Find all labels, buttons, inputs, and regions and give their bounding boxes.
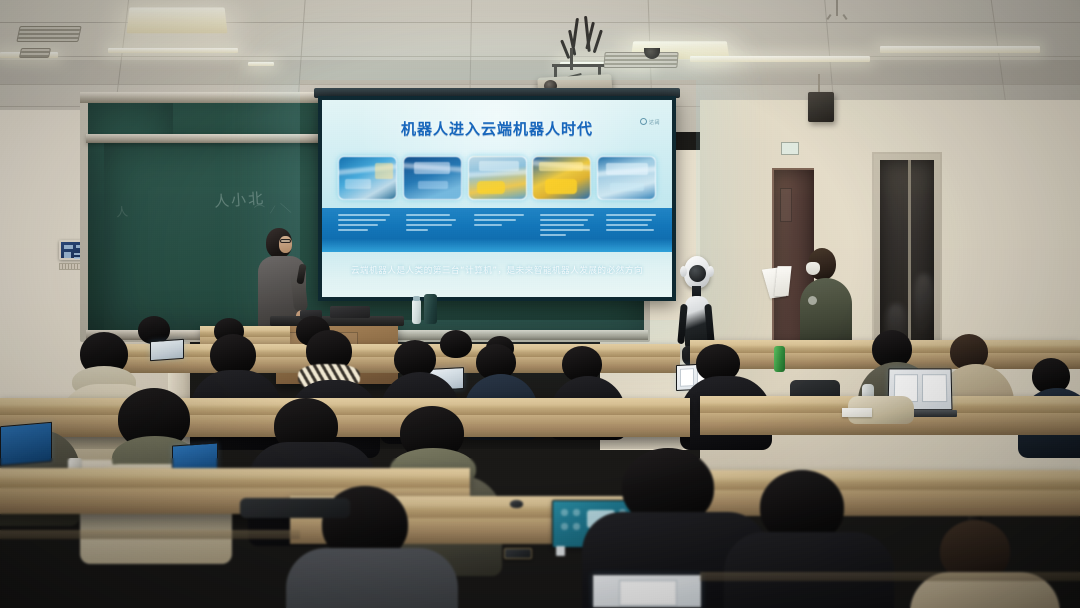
slide-thumbnail: [597, 156, 656, 200]
wall-notice-plate: [781, 142, 799, 155]
wall-speaker: [808, 92, 834, 122]
ceiling-strip-light: [108, 48, 238, 53]
attendee-torso: [724, 532, 894, 608]
slide-thumbnail: [338, 156, 397, 200]
slide-caption-band: [322, 208, 672, 252]
bottle-cap: [413, 296, 420, 301]
speaker-mount: [818, 74, 820, 92]
laptop-sleeve: [240, 498, 350, 518]
slide-logo: 达闼: [640, 118, 660, 126]
tablet-app-icon[interactable]: [561, 509, 568, 516]
computer-mouse[interactable]: [510, 500, 523, 508]
robot-ear: [680, 266, 687, 277]
ceiling-strip-light: [690, 56, 870, 62]
desk-equipment-box: [330, 306, 370, 318]
air-vent: [16, 26, 81, 42]
robot-ear: [707, 266, 714, 277]
attendee-head: [440, 330, 472, 358]
floor-riser: [700, 572, 1080, 581]
desk-row: [0, 468, 470, 488]
logo-text: 达闼: [649, 120, 660, 126]
water-bottle: [412, 300, 421, 324]
ceiling-strip-light: [248, 62, 274, 66]
green-bottle: [774, 346, 785, 372]
ceiling-hanger: [842, 14, 847, 20]
desk-row: [0, 398, 690, 415]
air-vent: [603, 52, 678, 68]
tablet-stand: [556, 546, 565, 556]
logo-mark: [640, 118, 647, 125]
slide-footer-text: 云端机器人是人类的第三台“计算机”，是未来智能机器人发展的必然方向: [322, 264, 672, 276]
presenter-glasses: [280, 239, 291, 243]
lecture-hall-photo: 人小北 ⌒ ∕ ＼ 人 机器人进入云端机器人时代 达闼: [0, 0, 1080, 608]
floor-riser: [0, 530, 300, 539]
desk-row-face: [0, 415, 690, 437]
air-vent: [19, 48, 51, 58]
ceiling-strip-light: [880, 46, 1040, 53]
robot-face-visor: [689, 265, 706, 282]
slide-thumbnail: [403, 156, 462, 200]
slide-title: 机器人进入云端机器人时代: [322, 118, 672, 139]
face-mask: [806, 262, 820, 275]
desk-row-face: [700, 490, 1080, 516]
slide-surface: 机器人进入云端机器人时代 达闼: [322, 100, 672, 297]
tablet-app-icon[interactable]: [573, 523, 580, 530]
projection-screen: 机器人进入云端机器人时代 达闼: [318, 96, 676, 301]
desk-row: [700, 470, 1080, 490]
ceiling-panel-light: [127, 7, 228, 33]
paper-notebook: [842, 408, 872, 417]
attendee-torso: [286, 548, 458, 608]
smartphone[interactable]: [504, 548, 532, 559]
slide-thumbnail: [468, 156, 527, 200]
tablet-app-icon[interactable]: [573, 509, 580, 516]
thermos-cup: [424, 294, 437, 324]
ceiling-hanger: [826, 14, 831, 20]
ceiling-hanger: [836, 0, 838, 16]
slide-thumbnail: [532, 156, 591, 200]
tablet-app-icon[interactable]: [561, 523, 568, 530]
slide-thumbnail-row: [338, 156, 656, 200]
